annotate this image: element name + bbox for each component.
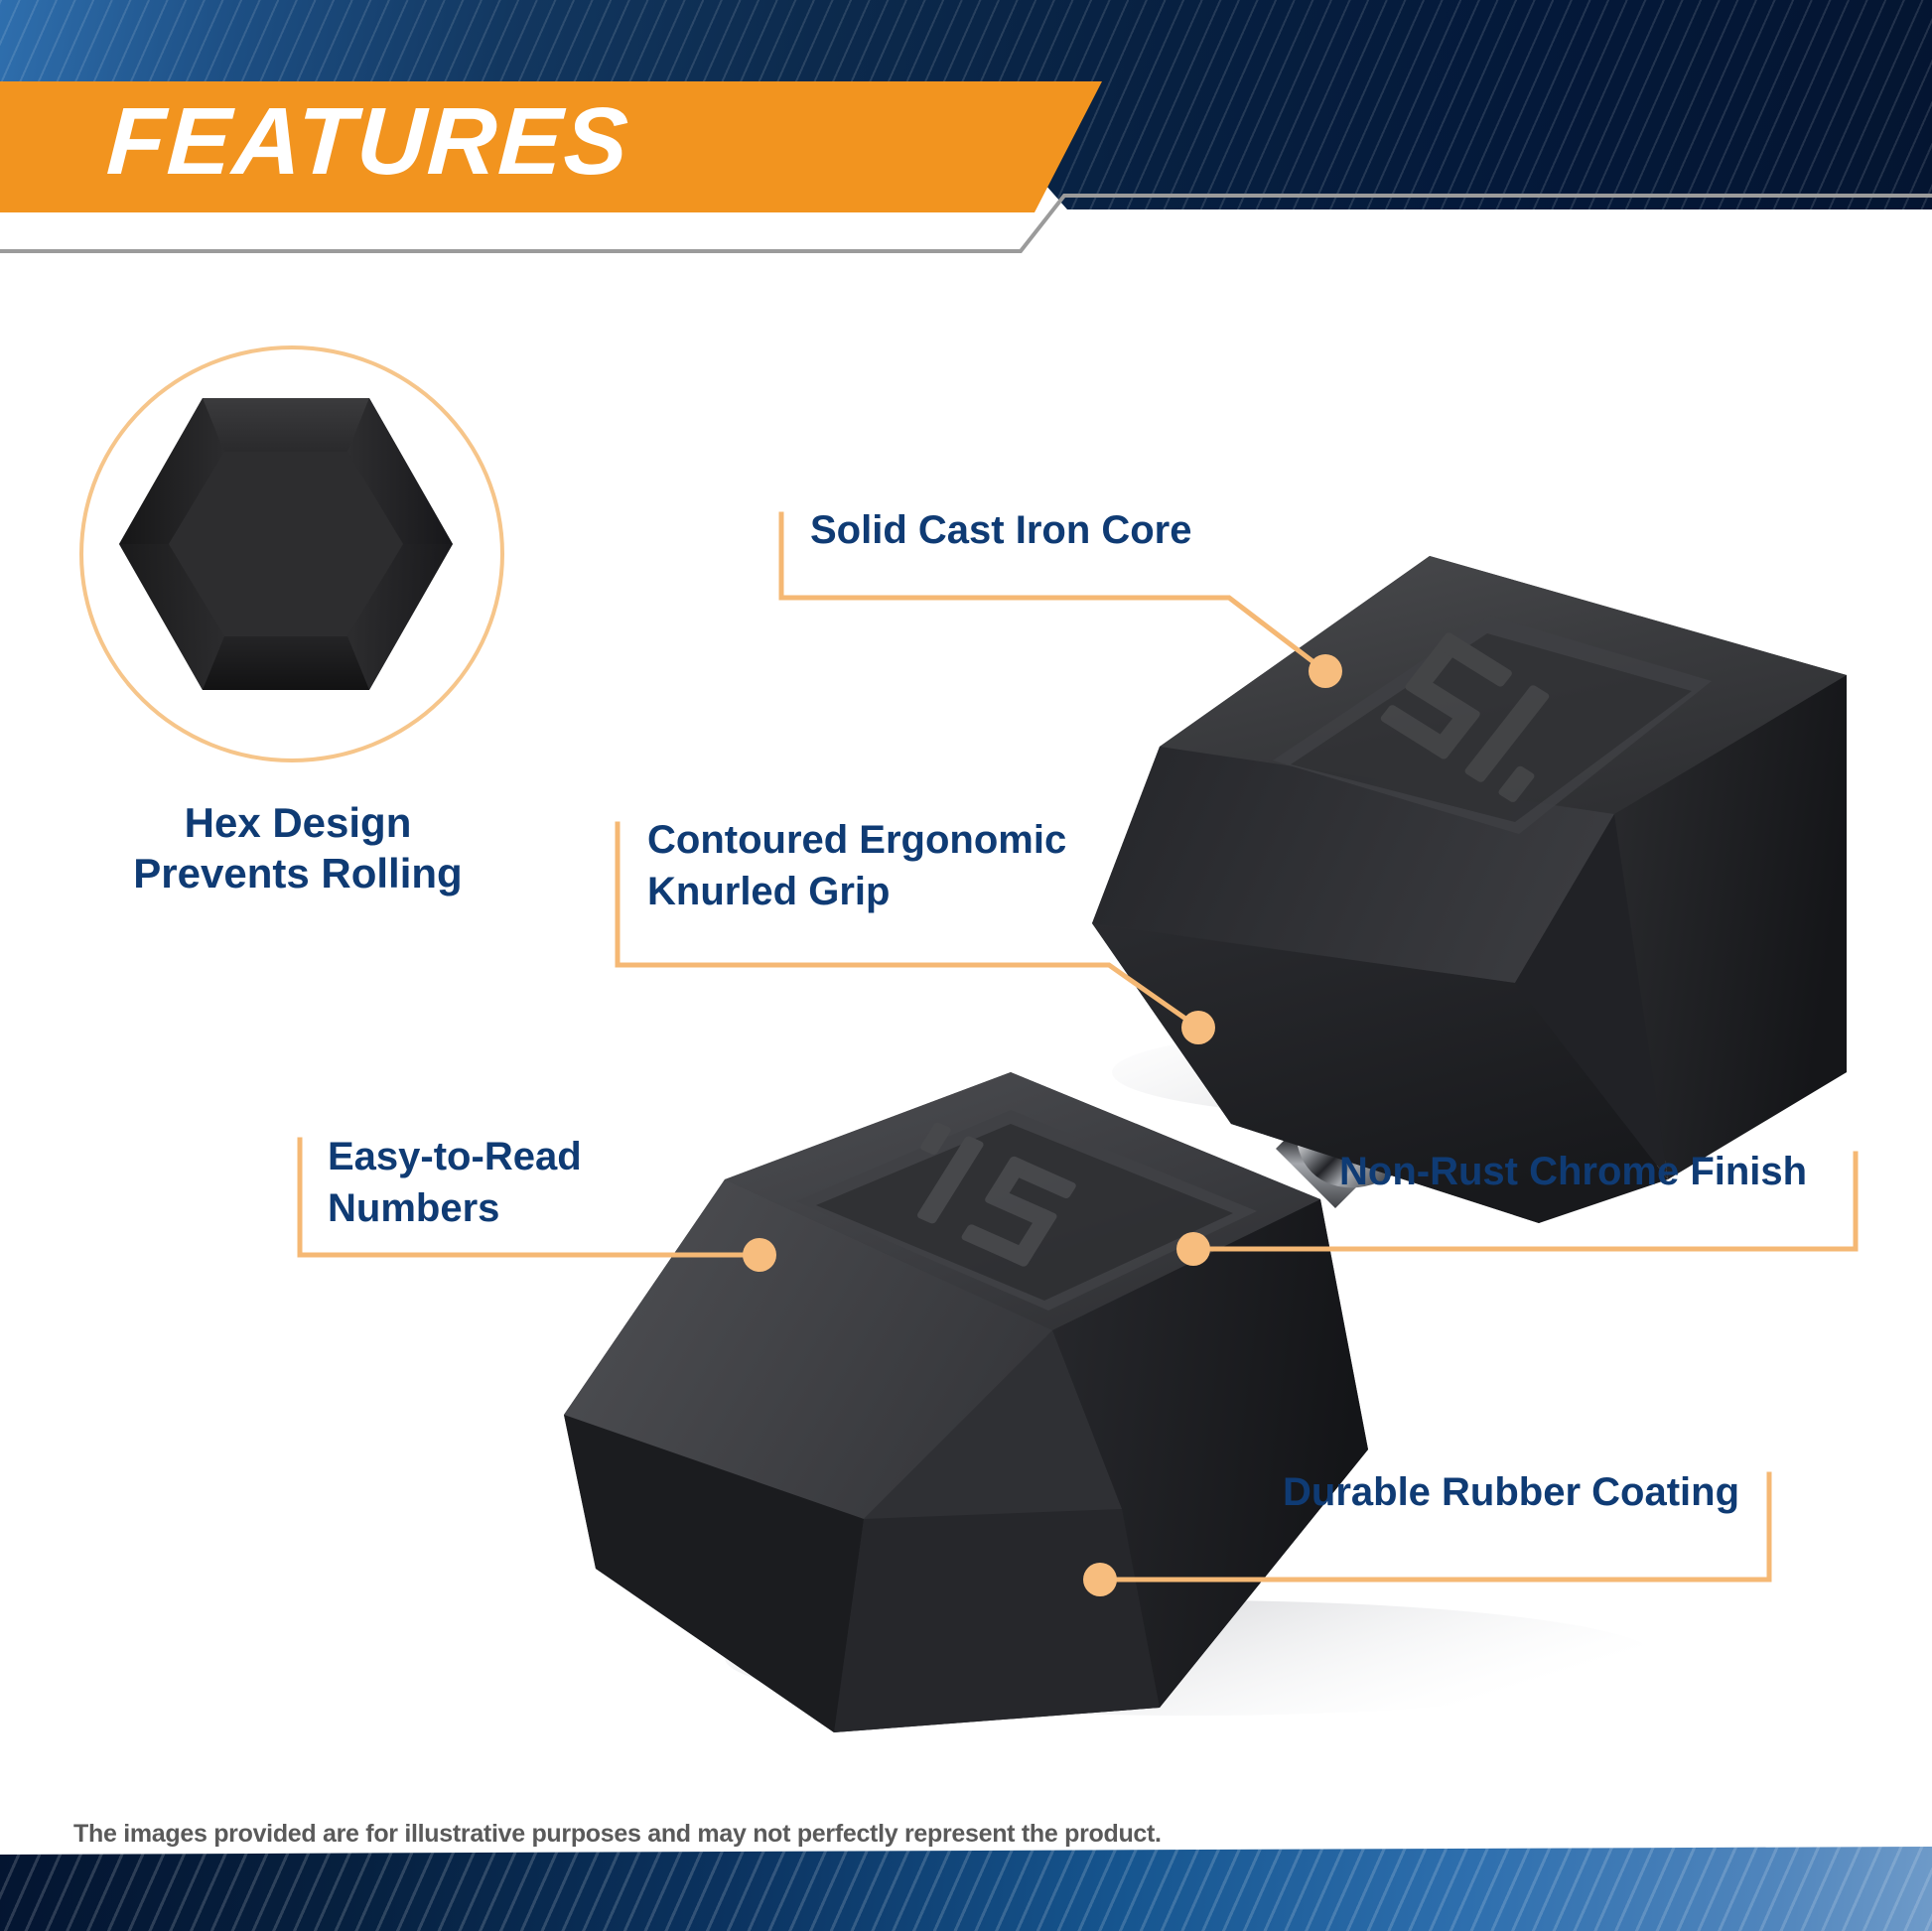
page-header: FEATURES xyxy=(0,0,1932,298)
callout-solid-cast-iron-core: Solid Cast Iron Core xyxy=(810,505,1192,555)
callout-label-contoured-line-1: Contoured Ergonomic xyxy=(647,814,1066,866)
callout-contoured-ergonomic-knurled-grip: Contoured Ergonomic Knurled Grip xyxy=(647,814,1066,917)
callout-durable-rubber-coating: Durable Rubber Coating xyxy=(1283,1467,1739,1517)
callout-easy-to-read-numbers: Easy-to-Read Numbers xyxy=(328,1131,582,1234)
hexagon-end-view-icon xyxy=(117,390,455,698)
callout-label-durable-rubber-coating: Durable Rubber Coating xyxy=(1283,1467,1739,1517)
callout-label-easy-line-2: Numbers xyxy=(328,1182,582,1234)
callout-non-rust-chrome-finish: Non-Rust Chrome Finish xyxy=(1339,1147,1807,1196)
callout-label-easy-line-1: Easy-to-Read xyxy=(328,1131,582,1182)
hex-caption-line-1: Hex Design xyxy=(40,797,556,848)
page-footer xyxy=(0,1847,1932,1931)
callout-label-contoured-line-2: Knurled Grip xyxy=(647,866,1066,917)
callout-label-solid-cast-iron-core: Solid Cast Iron Core xyxy=(810,505,1192,555)
hex-badge-caption: Hex Design Prevents Rolling xyxy=(40,797,556,898)
disclaimer-text: The images provided are for illustrative… xyxy=(73,1820,1162,1849)
dumbbell-head-upper xyxy=(1092,556,1847,1223)
hex-design-badge: Hex Design Prevents Rolling xyxy=(79,345,516,782)
hex-caption-line-2: Prevents Rolling xyxy=(40,848,556,898)
features-page: FEATURES xyxy=(0,0,1932,1931)
page-title: FEATURES xyxy=(104,94,631,190)
callout-label-non-rust-chrome-finish: Non-Rust Chrome Finish xyxy=(1339,1147,1807,1196)
